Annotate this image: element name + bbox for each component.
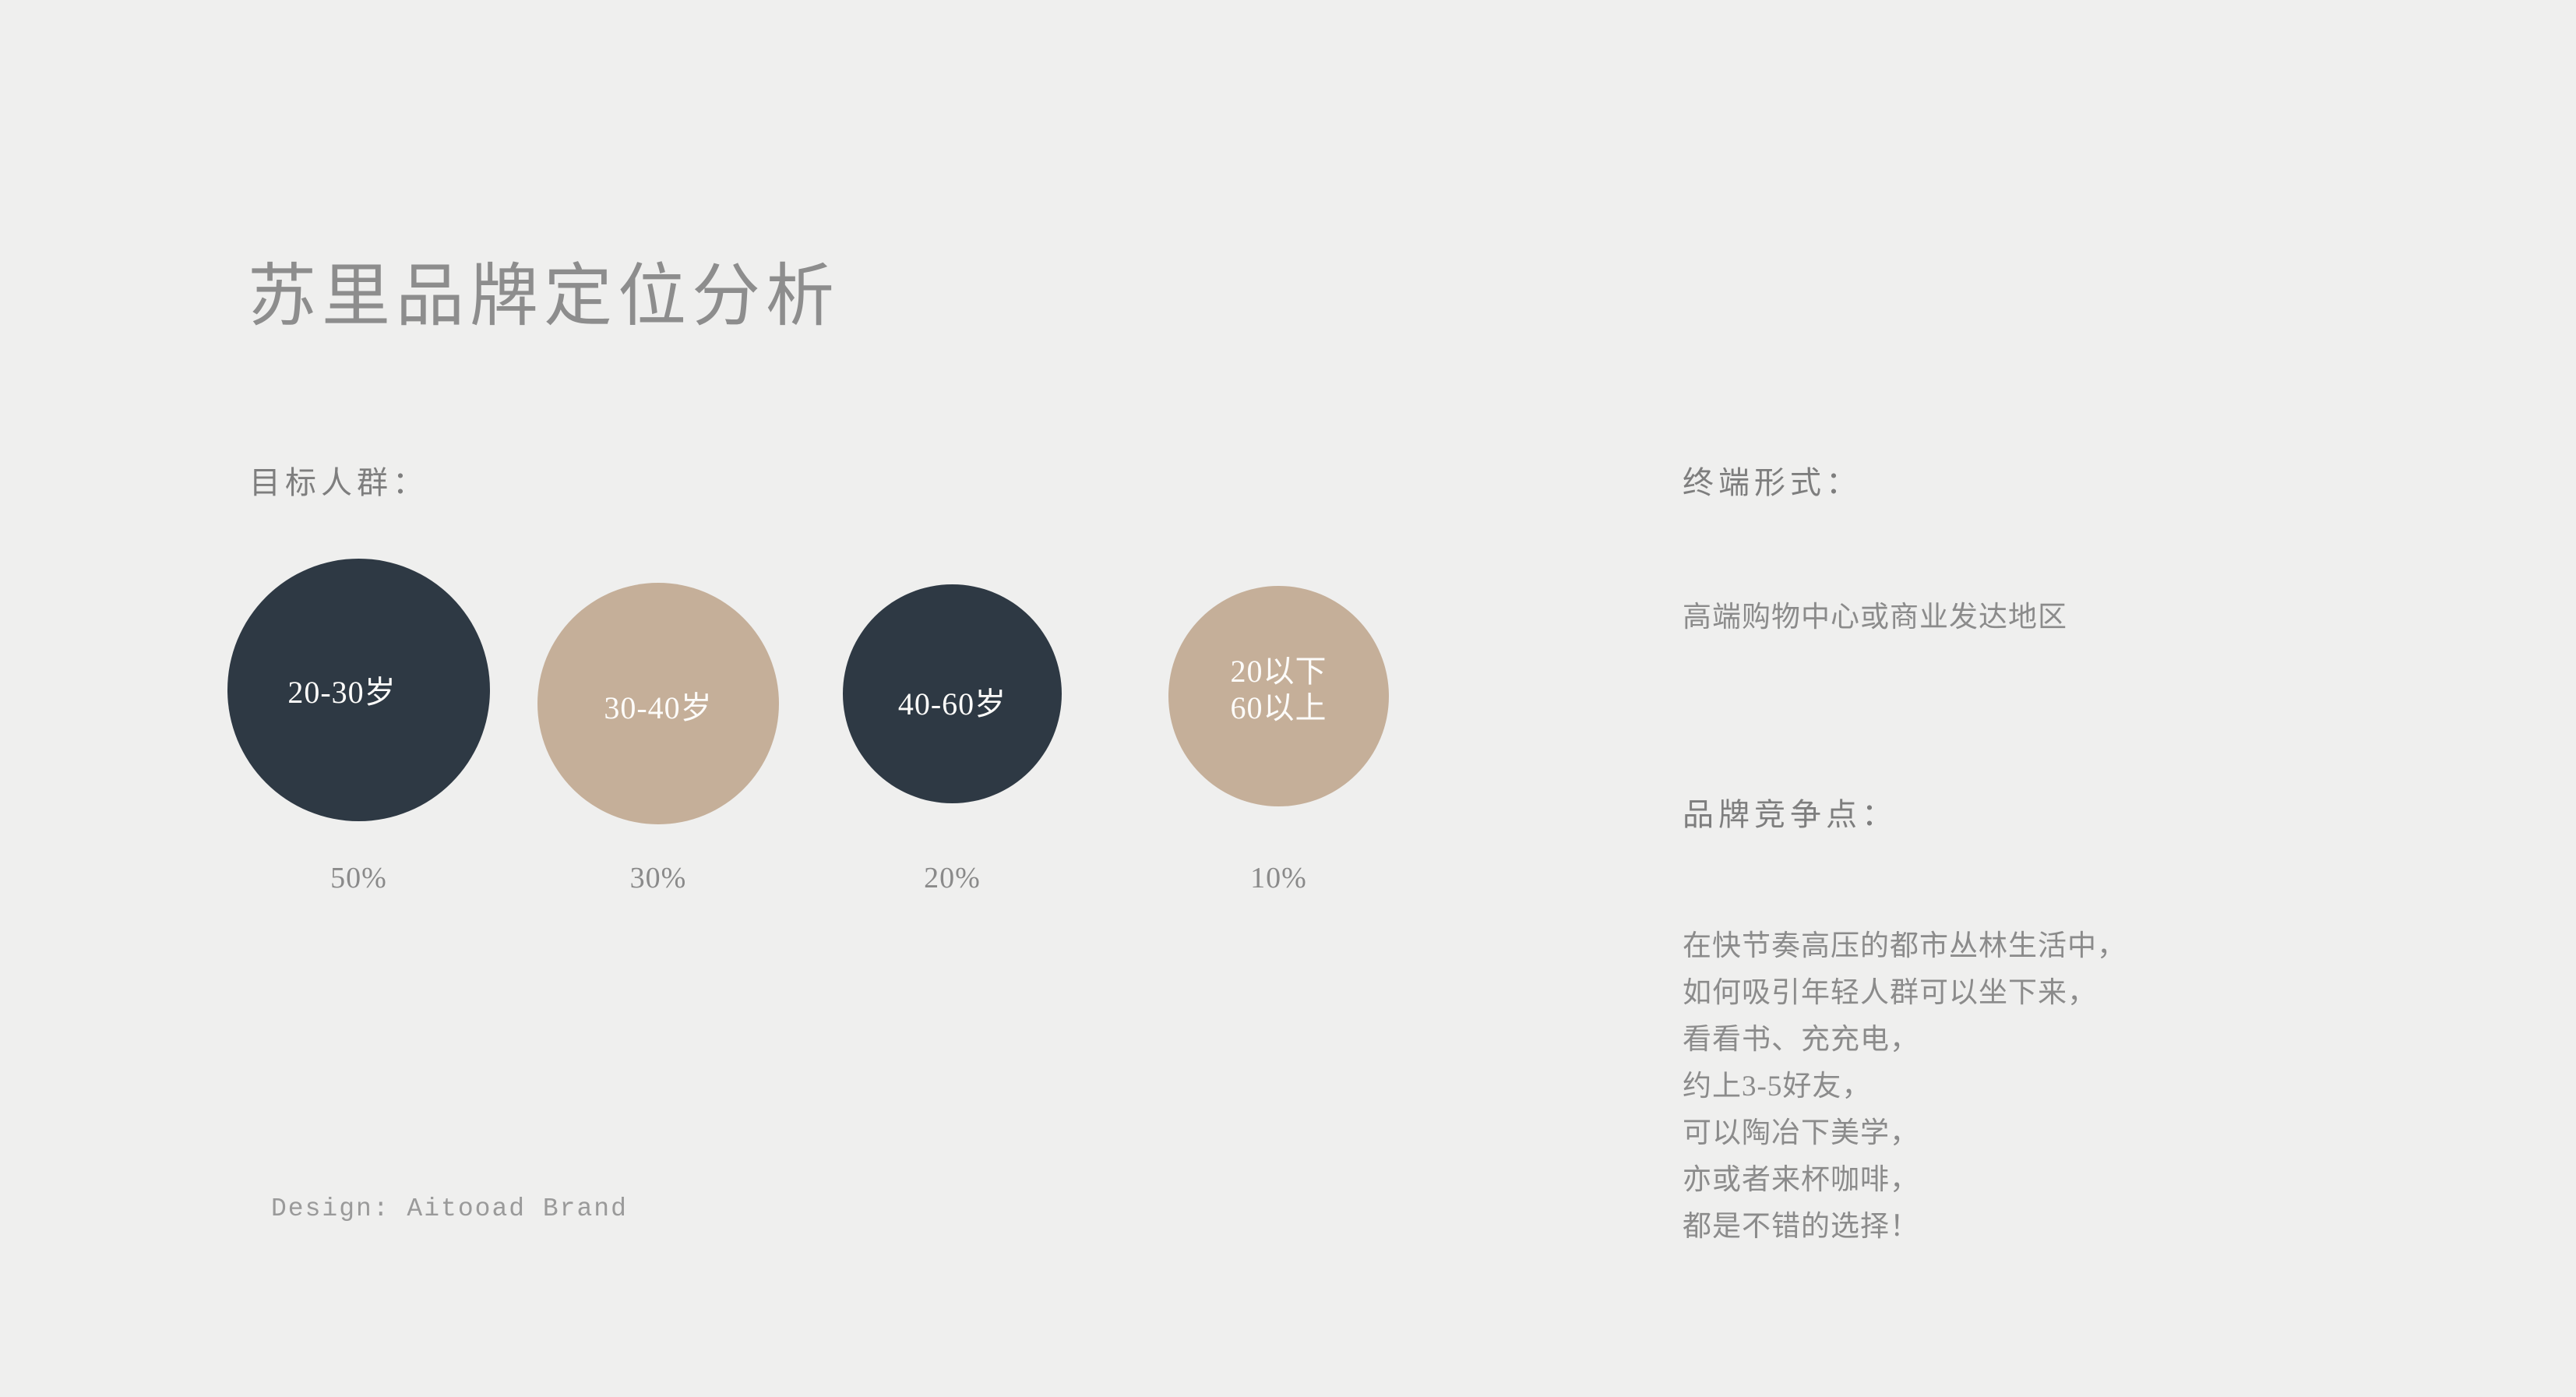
- brand-competition-label: 品牌竞争点：: [1683, 799, 1898, 831]
- terminal-form-body: 高端购物中心或商业发达地区: [1683, 594, 2067, 641]
- slide-canvas: 苏里品牌定位分析 目标人群： 20-30岁 50% 30-40岁 30% 40-…: [0, 0, 2576, 1397]
- segment-percent: 20%: [843, 863, 1062, 893]
- audience-section-label: 目标人群：: [249, 467, 428, 499]
- brand-competition-body: 在快节奏高压的都市丛林生活中， 如何吸引年轻人群可以坐下来， 看看书、充充电， …: [1683, 923, 2127, 1251]
- segment-label: 20-30岁: [227, 674, 456, 711]
- segment-label: 30-40岁: [547, 690, 770, 726]
- segment-percent: 10%: [1168, 863, 1389, 893]
- segment-percent: 30%: [537, 863, 779, 893]
- segment-label: 20以下 60以上: [1168, 653, 1389, 726]
- segment-percent: 50%: [227, 863, 490, 893]
- segment-label: 40-60岁: [843, 686, 1062, 722]
- page-title: 苏里品牌定位分析: [248, 263, 840, 332]
- design-credit: Design: Aitooad Brand: [271, 1196, 628, 1222]
- terminal-form-label: 终端形式：: [1683, 467, 1862, 499]
